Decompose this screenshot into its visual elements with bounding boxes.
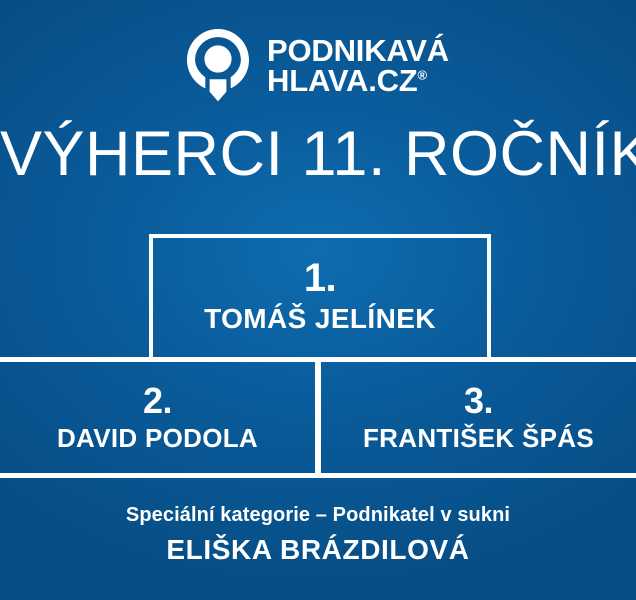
registered-mark: ® bbox=[418, 68, 428, 83]
winner-rank-3: 3. bbox=[464, 383, 493, 419]
divider-horizontal-bottom bbox=[0, 473, 636, 478]
award-poster: PODNIKAVÁ HLAVA.CZ® VÝHERCI 11. ROČNÍKU … bbox=[0, 0, 636, 600]
page-title: VÝHERCI 11. ROČNÍKU bbox=[0, 121, 636, 187]
winner-name-3: FRANTIŠEK ŠPÁS bbox=[363, 425, 594, 452]
winner-card-1: 1. TOMÁŠ JELÍNEK bbox=[149, 234, 491, 357]
lightbulb-icon bbox=[187, 29, 249, 103]
brand-line-1: PODNIKAVÁ bbox=[267, 36, 449, 66]
winner-name-2: DAVID PODOLA bbox=[57, 425, 258, 452]
special-category: Speciální kategorie – Podnikatel v sukni… bbox=[0, 503, 636, 566]
winners-row-2: 2. DAVID PODOLA 3. FRANTIŠEK ŠPÁS bbox=[0, 362, 636, 473]
winners-board: 1. TOMÁŠ JELÍNEK 2. DAVID PODOLA 3. FRAN… bbox=[0, 234, 636, 478]
winner-rank-2: 2. bbox=[143, 383, 172, 419]
winner-card-3: 3. FRANTIŠEK ŠPÁS bbox=[318, 362, 636, 473]
winner-name-1: TOMÁŠ JELÍNEK bbox=[204, 304, 436, 333]
brand-wordmark: PODNIKAVÁ HLAVA.CZ® bbox=[267, 36, 449, 97]
brand-line-2-text: HLAVA.CZ bbox=[267, 63, 418, 98]
brand-logo: PODNIKAVÁ HLAVA.CZ® bbox=[0, 24, 636, 108]
winner-rank-1: 1. bbox=[304, 258, 336, 298]
brand-line-2: HLAVA.CZ® bbox=[267, 66, 449, 96]
special-category-label: Speciální kategorie – Podnikatel v sukni bbox=[0, 503, 636, 527]
winner-card-2: 2. DAVID PODOLA bbox=[0, 362, 318, 473]
special-category-winner: ELIŠKA BRÁZDILOVÁ bbox=[0, 535, 636, 566]
